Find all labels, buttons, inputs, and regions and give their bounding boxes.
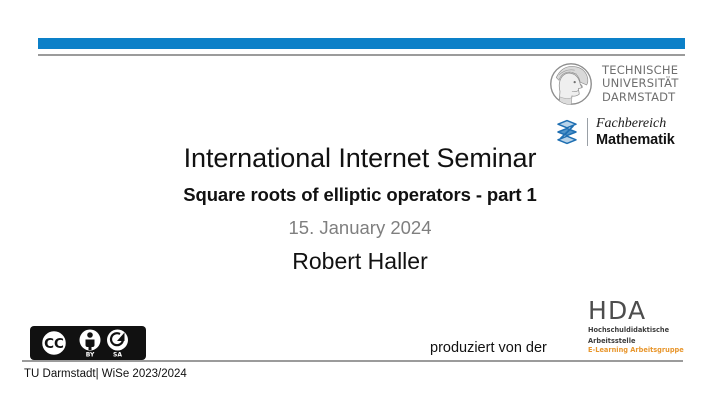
presentation-date: 15. January 2024 xyxy=(0,217,720,239)
tu-wordmark-line-3: DARMSTADT xyxy=(602,91,679,104)
hda-logo: HDA Hochschuldidaktische Arbeitsstelle E… xyxy=(588,298,692,354)
hda-subtitle-line-1: Hochschuldidaktische xyxy=(588,326,692,334)
footer-divider-rule xyxy=(22,360,683,362)
page-subtitle: Square roots of elliptic operators - par… xyxy=(0,184,720,206)
author-name: Robert Haller xyxy=(0,248,720,275)
tu-wordmark-line-2: UNIVERSITÄT xyxy=(602,77,679,90)
creative-commons-by-sa-badge[interactable]: CC BY SA xyxy=(30,326,146,360)
by-person-icon xyxy=(80,330,101,351)
page-title: International Internet Seminar xyxy=(0,143,720,175)
by-label: BY xyxy=(86,352,95,359)
hda-subtitle-line-3: E-Learning Arbeitsgruppe xyxy=(588,346,692,354)
sa-label: SA xyxy=(113,352,122,359)
top-accent-bar xyxy=(38,38,685,49)
hda-subtitle-line-2: Arbeitsstelle xyxy=(588,337,692,345)
title-block: International Internet Seminar Square ro… xyxy=(0,143,720,275)
hda-title: HDA xyxy=(588,298,692,323)
cc-icon: CC xyxy=(42,331,67,356)
svg-text:CC: CC xyxy=(44,336,64,352)
top-divider-rule xyxy=(38,54,685,56)
sa-sharealike-icon xyxy=(107,330,128,351)
footer-text: TU Darmstadt| WiSe 2023/2024 xyxy=(24,368,187,380)
tu-darmstadt-logo: TECHNISCHE UNIVERSITÄT DARMSTADT xyxy=(548,60,690,108)
tu-darmstadt-wordmark: TECHNISCHE UNIVERSITÄT DARMSTADT xyxy=(602,64,679,103)
fachbereich-label: Fachbereich xyxy=(596,116,675,132)
produced-by-label: produziert von der xyxy=(430,340,547,356)
fachbereich-divider xyxy=(587,118,588,146)
tu-darmstadt-athena-head-icon xyxy=(548,61,594,107)
